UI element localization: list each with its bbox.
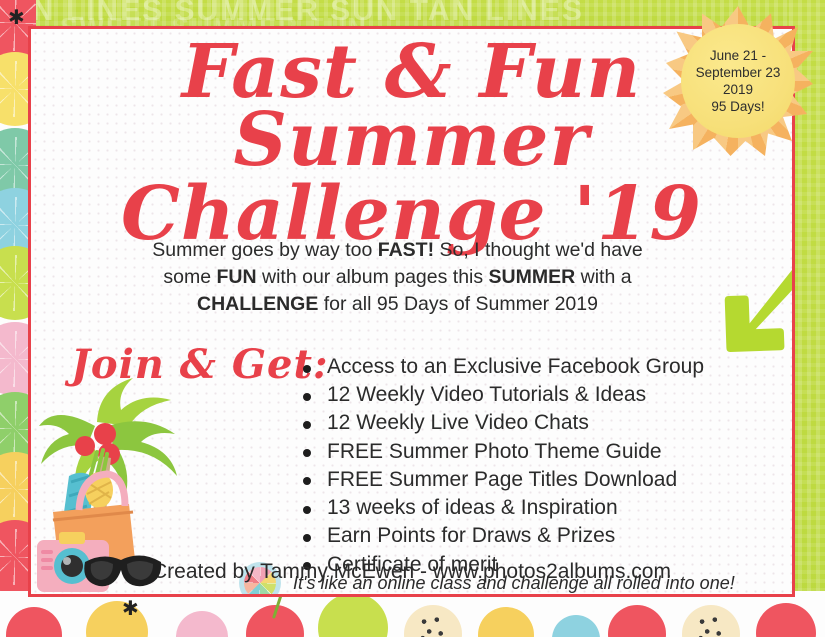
intro-line-1: Summer goes by way too FAST! So, I thoug… [85, 237, 710, 264]
fruit-pink-icon [176, 611, 228, 637]
fruit-lime-icon [318, 593, 388, 637]
fruit-red-icon [6, 607, 62, 637]
sunglasses-icon [84, 555, 161, 586]
list-item: FREE Summer Page Titles Download [299, 466, 704, 494]
sun-badge-line-1: June 21 - [696, 47, 781, 64]
list-item: 12 Weekly Video Tutorials & Ideas [299, 381, 704, 409]
list-item: Earn Points for Draws & Prizes [299, 522, 704, 550]
fruit-red4-icon [756, 603, 816, 637]
fruit-seeded2-icon [682, 605, 740, 637]
arrow-down-left-icon [701, 249, 792, 365]
intro-line-2: some FUN with our album pages this SUMME… [85, 264, 710, 291]
sun-disc: June 21 - September 23 2019 95 Days! [681, 24, 795, 138]
fruit-seeded-icon [404, 605, 462, 637]
sun-badge-line-3: 2019 [696, 81, 781, 98]
intro-line-3: CHALLENGE for all 95 Days of Summer 2019 [85, 291, 710, 318]
poster: TAN LINES SUMMER SUN TAN LINES SWEET SUM… [0, 0, 825, 637]
sun-badge-text: June 21 - September 23 2019 95 Days! [696, 47, 781, 115]
list-item: 12 Weekly Live Video Chats [299, 409, 704, 437]
fruit-red3-icon [608, 605, 666, 637]
starburst-icon: ✱ [8, 8, 25, 28]
fruit-yellow-icon [478, 607, 534, 637]
list-item: Access to an Exclusive Facebook Group [299, 353, 704, 381]
benefits-list: Access to an Exclusive Facebook Group 12… [299, 353, 704, 579]
beach-collage-illustration [31, 364, 225, 594]
sun-badge-icon: June 21 - September 23 2019 95 Days! [663, 6, 813, 156]
sun-badge-line-4: 95 Days! [696, 98, 781, 115]
starburst-icon-2: ✱ [122, 599, 139, 619]
fruit-blue-icon [552, 615, 600, 637]
bottom-border-band: ✱ [0, 591, 825, 637]
sun-badge-line-2: September 23 [696, 64, 781, 81]
intro-paragraph: Summer goes by way too FAST! So, I thoug… [85, 237, 710, 318]
list-item: 13 weeks of ideas & Inspiration [299, 494, 704, 522]
list-item: FREE Summer Photo Theme Guide [299, 438, 704, 466]
